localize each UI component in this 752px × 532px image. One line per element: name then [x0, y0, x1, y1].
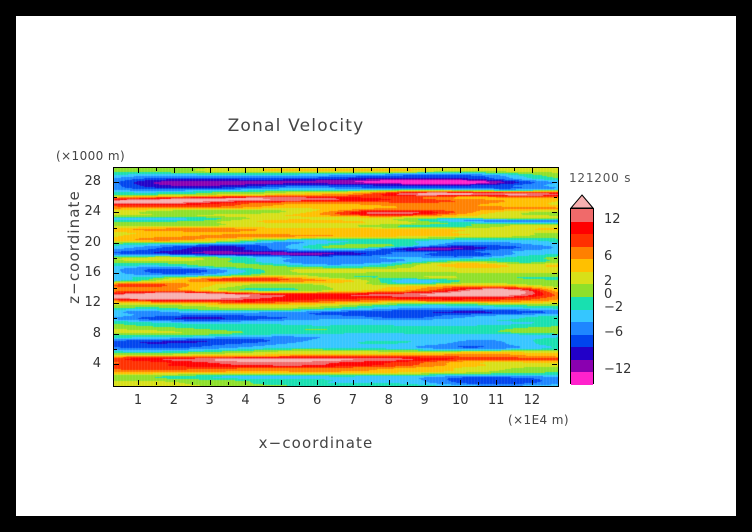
x-axis-tick — [460, 380, 461, 385]
x-axis-minor-tick — [299, 382, 300, 385]
x-axis-minor-tick — [407, 382, 408, 385]
x-axis-minor-tick — [263, 168, 264, 171]
x-axis-tick-label: 12 — [517, 393, 547, 408]
x-axis-minor-tick — [407, 168, 408, 171]
x-axis-tick — [532, 168, 533, 173]
colorbar-over-arrow-icon — [570, 194, 594, 209]
x-axis-tick-label: 10 — [445, 393, 475, 408]
x-axis-minor-tick — [228, 168, 229, 171]
x-axis-tick — [245, 380, 246, 385]
colorbar-segment — [571, 347, 593, 360]
colorbar-segment — [571, 360, 593, 373]
y-axis-minor-tick — [114, 228, 117, 229]
y-axis-title: z−coordinate — [65, 167, 83, 327]
y-axis-tick-label: 4 — [71, 356, 101, 371]
x-axis-tick — [460, 168, 461, 173]
y-axis-tick — [552, 212, 557, 213]
x-axis-tick — [532, 380, 533, 385]
velocity-field-canvas — [114, 168, 558, 386]
x-axis-tick — [425, 380, 426, 385]
heatmap-plot-area — [113, 167, 559, 387]
colorbar-segment — [571, 322, 593, 335]
x-axis-tick — [425, 168, 426, 173]
y-axis-tick — [114, 364, 119, 365]
x-axis-tick — [138, 168, 139, 173]
x-axis-minor-tick — [442, 168, 443, 171]
x-axis-minor-tick — [335, 382, 336, 385]
colorbar-tick-label: 6 — [604, 249, 612, 264]
colorbar-gradient — [570, 208, 594, 384]
y-axis-tick — [552, 364, 557, 365]
colorbar-segment — [571, 297, 593, 310]
colorbar: 12620−2−6−12 — [570, 194, 690, 394]
colorbar-tick-label: −12 — [604, 362, 631, 377]
y-axis-minor-tick — [114, 288, 117, 289]
x-axis-minor-tick — [514, 382, 515, 385]
y-axis-tick — [552, 303, 557, 304]
y-axis-tick — [114, 334, 119, 335]
colorbar-tick-label: −2 — [604, 300, 623, 315]
y-axis-minor-tick — [554, 318, 557, 319]
x-axis-minor-tick — [371, 168, 372, 171]
x-axis-tick-label: 7 — [338, 393, 368, 408]
x-axis-minor-tick — [442, 382, 443, 385]
colorbar-segment — [571, 310, 593, 323]
y-axis-minor-tick — [554, 197, 557, 198]
time-annotation: 121200 s — [569, 171, 631, 185]
y-axis-minor-tick — [114, 167, 117, 168]
x-axis-minor-tick — [192, 168, 193, 171]
x-axis-tick-label: 8 — [374, 393, 404, 408]
x-axis-tick-label: 4 — [230, 393, 260, 408]
y-axis-unit-label: (×1000 m) — [56, 149, 125, 163]
y-axis-minor-tick — [554, 288, 557, 289]
colorbar-tick-label: −6 — [604, 325, 623, 340]
x-axis-minor-tick — [478, 382, 479, 385]
x-axis-tick — [353, 380, 354, 385]
x-axis-tick-label: 5 — [266, 393, 296, 408]
x-axis-tick — [138, 380, 139, 385]
screenshot-root: Zonal Velocity (×1000 m) 121200 s 123456… — [0, 0, 752, 532]
y-axis-tick — [114, 182, 119, 183]
y-axis-tick-label: 8 — [71, 326, 101, 341]
x-axis-title: x−coordinate — [206, 434, 426, 452]
y-axis-minor-tick — [114, 318, 117, 319]
y-axis-minor-tick — [554, 228, 557, 229]
colorbar-segment — [571, 247, 593, 260]
x-axis-tick-label: 1 — [123, 393, 153, 408]
x-axis-tick-label: 11 — [481, 393, 511, 408]
colorbar-segment — [571, 284, 593, 297]
y-axis-minor-tick — [554, 349, 557, 350]
colorbar-segment — [571, 234, 593, 247]
y-axis-tick — [114, 303, 119, 304]
x-axis-tick-label: 6 — [302, 393, 332, 408]
x-axis-minor-tick — [371, 382, 372, 385]
x-axis-tick — [210, 168, 211, 173]
x-axis-minor-tick — [335, 168, 336, 171]
x-axis-tick — [210, 380, 211, 385]
y-axis-minor-tick — [554, 258, 557, 259]
y-axis-tick — [552, 182, 557, 183]
x-axis-minor-tick — [156, 382, 157, 385]
figure-canvas: Zonal Velocity (×1000 m) 121200 s 123456… — [16, 16, 736, 516]
y-axis-minor-tick — [114, 349, 117, 350]
x-axis-minor-tick — [263, 382, 264, 385]
x-axis-tick — [496, 380, 497, 385]
x-axis-unit-label: (×1E4 m) — [508, 413, 569, 427]
x-axis-minor-tick — [299, 168, 300, 171]
x-axis-tick — [353, 168, 354, 173]
x-axis-tick — [174, 380, 175, 385]
y-axis-tick — [552, 334, 557, 335]
x-axis-tick — [317, 380, 318, 385]
x-axis-tick — [496, 168, 497, 173]
x-axis-tick — [317, 168, 318, 173]
x-axis-minor-tick — [192, 382, 193, 385]
y-axis-tick — [552, 273, 557, 274]
colorbar-segment — [571, 335, 593, 348]
y-axis-tick — [114, 212, 119, 213]
colorbar-segment — [571, 222, 593, 235]
x-axis-tick-label: 9 — [410, 393, 440, 408]
x-axis-tick — [245, 168, 246, 173]
x-axis-tick — [389, 168, 390, 173]
x-axis-tick-label: 2 — [159, 393, 189, 408]
x-axis-minor-tick — [156, 168, 157, 171]
y-axis-minor-tick — [554, 167, 557, 168]
x-axis-minor-tick — [478, 168, 479, 171]
y-axis-tick — [114, 243, 119, 244]
y-axis-tick — [114, 273, 119, 274]
colorbar-segment — [571, 259, 593, 272]
x-axis-minor-tick — [514, 168, 515, 171]
y-axis-minor-tick — [114, 197, 117, 198]
colorbar-segment — [571, 272, 593, 285]
colorbar-segment — [571, 372, 593, 385]
page-title: Zonal Velocity — [16, 116, 576, 136]
x-axis-minor-tick — [228, 382, 229, 385]
y-axis-minor-tick — [114, 258, 117, 259]
x-axis-tick — [174, 168, 175, 173]
colorbar-tick-label: 12 — [604, 212, 621, 227]
x-axis-tick — [281, 380, 282, 385]
x-axis-tick-label: 3 — [195, 393, 225, 408]
x-axis-tick — [389, 380, 390, 385]
x-axis-tick — [281, 168, 282, 173]
y-axis-tick — [552, 243, 557, 244]
colorbar-segment — [571, 209, 593, 222]
